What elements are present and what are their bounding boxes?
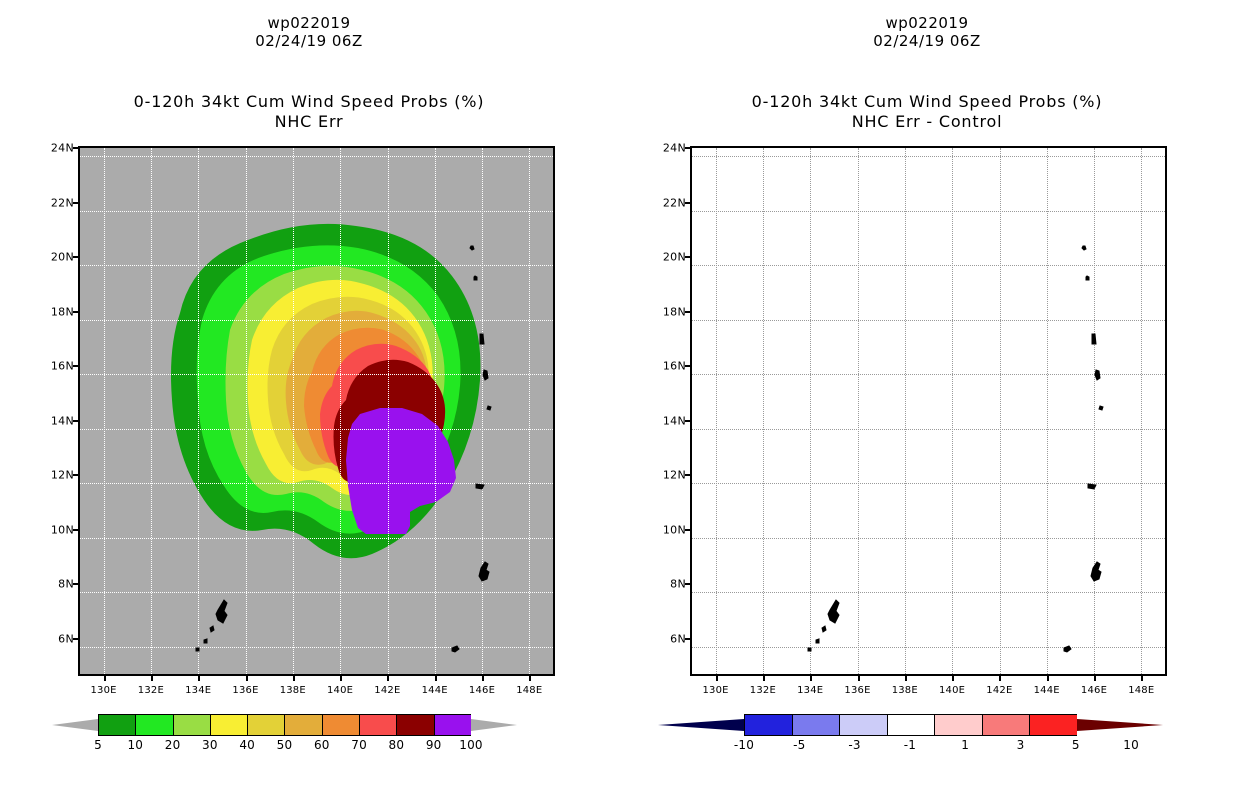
x-tick-label: 144E	[1034, 685, 1060, 696]
chart-subtitle-right: NHC Err - Control	[618, 112, 1236, 132]
y-axis-right: 24N 22N 20N 18N 16N 14N 12N 10N 8N 6N	[648, 146, 686, 676]
y-tick-label: 14N	[51, 414, 74, 427]
x-tick-label: 132E	[750, 685, 776, 696]
coastline-overlay-right	[692, 148, 1165, 674]
x-tick-label: 134E	[797, 685, 823, 696]
colorbar-high-arrow	[471, 719, 517, 731]
y-tick-label: 8N	[670, 578, 686, 591]
colorbar-tick-label: -3	[848, 738, 860, 752]
storm-datetime-right: 02/24/19 06Z	[618, 32, 1236, 50]
x-tick-marks-left	[78, 676, 555, 682]
storm-datetime-left: 02/24/19 06Z	[0, 32, 618, 50]
colorbar-tick-label: -10	[734, 738, 754, 752]
y-tick-label: 20N	[663, 251, 686, 264]
map-inner-left	[80, 148, 553, 674]
y-tick-label: 14N	[663, 414, 686, 427]
y-tick-marks-right	[685, 146, 691, 676]
y-tick-label: 24N	[663, 142, 686, 155]
colorbar-swatch	[434, 714, 471, 736]
x-axis-left: 130E 132E 134E 136E 138E 140E 142E 144E …	[78, 685, 555, 701]
colorbar-tick-label: 10	[127, 738, 143, 752]
colorbar-tick-label: 10	[1123, 738, 1139, 752]
colorbar-swatch	[284, 714, 321, 736]
colorbar-low-arrow	[658, 719, 744, 731]
x-tick-label: 142E	[986, 685, 1012, 696]
panel-nhc-err-minus-control: wp022019 02/24/19 06Z 0-120h 34kt Cum Wi…	[618, 0, 1236, 800]
colorbar-tick-label: 100	[459, 738, 483, 752]
colorbar-high-arrow	[1077, 719, 1163, 731]
colorbar-swatch	[173, 714, 210, 736]
y-tick-label: 6N	[670, 632, 686, 645]
y-tick-marks-left	[73, 146, 79, 676]
colorbar-tick-label: 40	[239, 738, 255, 752]
chart-subtitle-left: NHC Err	[0, 112, 618, 132]
colorbar-swatch	[135, 714, 172, 736]
panel-nhc-err: wp022019 02/24/19 06Z 0-120h 34kt Cum Wi…	[0, 0, 618, 800]
y-tick-label: 16N	[51, 360, 74, 373]
storm-id-left: wp022019	[0, 14, 618, 32]
colorbar-swatch	[396, 714, 433, 736]
y-tick-label: 24N	[51, 142, 74, 155]
x-tick-label: 140E	[939, 685, 965, 696]
y-tick-label: 22N	[51, 196, 74, 209]
colorbar-tick-label: 3	[1017, 738, 1025, 752]
x-tick-label: 138E	[280, 685, 306, 696]
x-tick-label: 146E	[469, 685, 495, 696]
colorbar-swatch	[359, 714, 396, 736]
colorbar-tick-label: 90	[426, 738, 442, 752]
chart-title-text-left: 0-120h 34kt Cum Wind Speed Probs (%)	[0, 92, 618, 112]
colorbar-swatch	[934, 714, 982, 736]
y-tick-label: 18N	[51, 305, 74, 318]
colorbar-swatch	[982, 714, 1030, 736]
colorbar-swatch	[1029, 714, 1077, 736]
y-tick-label: 10N	[663, 523, 686, 536]
colorbar-tick-label: 1	[961, 738, 969, 752]
x-tick-label: 130E	[702, 685, 728, 696]
x-tick-marks-right	[690, 676, 1167, 682]
y-tick-label: 6N	[58, 632, 74, 645]
colorbar-tick-label: 70	[351, 738, 367, 752]
storm-title-left: wp022019 02/24/19 06Z	[0, 14, 618, 51]
x-tick-label: 130E	[90, 685, 116, 696]
colorbar-tick-label: -5	[793, 738, 805, 752]
colorbar-tick-label: 60	[314, 738, 330, 752]
map-inner-right	[692, 148, 1165, 674]
colorbar-swatch	[322, 714, 359, 736]
x-tick-label: 140E	[327, 685, 353, 696]
x-tick-label: 138E	[892, 685, 918, 696]
colorbar-swatch	[744, 714, 792, 736]
y-tick-label: 18N	[663, 305, 686, 318]
y-tick-label: 12N	[663, 469, 686, 482]
y-tick-label: 8N	[58, 578, 74, 591]
colorbar-tick-label: 5	[94, 738, 102, 752]
colorbar-tick-label: -1	[904, 738, 916, 752]
x-tick-label: 142E	[374, 685, 400, 696]
x-tick-label: 136E	[232, 685, 258, 696]
colorbar-swatch	[247, 714, 284, 736]
y-tick-label: 12N	[51, 469, 74, 482]
storm-id-right: wp022019	[618, 14, 1236, 32]
colorbar-swatch	[839, 714, 887, 736]
y-tick-label: 22N	[663, 196, 686, 209]
colorbar-low-arrow	[52, 719, 98, 731]
colorbar-swatch	[792, 714, 840, 736]
chart-title-right: 0-120h 34kt Cum Wind Speed Probs (%) NHC…	[618, 92, 1236, 131]
x-tick-label: 132E	[138, 685, 164, 696]
colorbar-swatch	[887, 714, 935, 736]
map-plot-nhc-err[interactable]	[78, 146, 555, 676]
y-tick-label: 20N	[51, 251, 74, 264]
colorbar-tick-label: 50	[277, 738, 293, 752]
colorbar-tick-label: 20	[165, 738, 181, 752]
x-tick-label: 144E	[422, 685, 448, 696]
storm-title-right: wp022019 02/24/19 06Z	[618, 14, 1236, 51]
x-tick-label: 136E	[844, 685, 870, 696]
y-tick-label: 10N	[51, 523, 74, 536]
colorbar-swatch	[98, 714, 135, 736]
colorbar-swatch	[210, 714, 247, 736]
y-axis-left: 24N 22N 20N 18N 16N 14N 12N 10N 8N 6N	[36, 146, 74, 676]
probability-colorbar: 5 10 20 30 40 50 60 70 80 90 100	[52, 714, 552, 769]
map-plot-nhc-err-minus-control[interactable]	[690, 146, 1167, 676]
colorbar-tick-label: 30	[202, 738, 218, 752]
chart-title-text-right: 0-120h 34kt Cum Wind Speed Probs (%)	[618, 92, 1236, 112]
difference-colorbar: -10 -5 -3 -1 1 3 5 10	[658, 714, 1178, 769]
colorbar-tick-label: 80	[389, 738, 405, 752]
x-tick-label: 148E	[516, 685, 542, 696]
chart-title-left: 0-120h 34kt Cum Wind Speed Probs (%) NHC…	[0, 92, 618, 131]
coastline-overlay-left	[80, 148, 553, 674]
x-tick-label: 146E	[1081, 685, 1107, 696]
x-tick-label: 148E	[1128, 685, 1154, 696]
x-axis-right: 130E 132E 134E 136E 138E 140E 142E 144E …	[690, 685, 1167, 701]
x-tick-label: 134E	[185, 685, 211, 696]
colorbar-tick-label: 5	[1072, 738, 1080, 752]
y-tick-label: 16N	[663, 360, 686, 373]
